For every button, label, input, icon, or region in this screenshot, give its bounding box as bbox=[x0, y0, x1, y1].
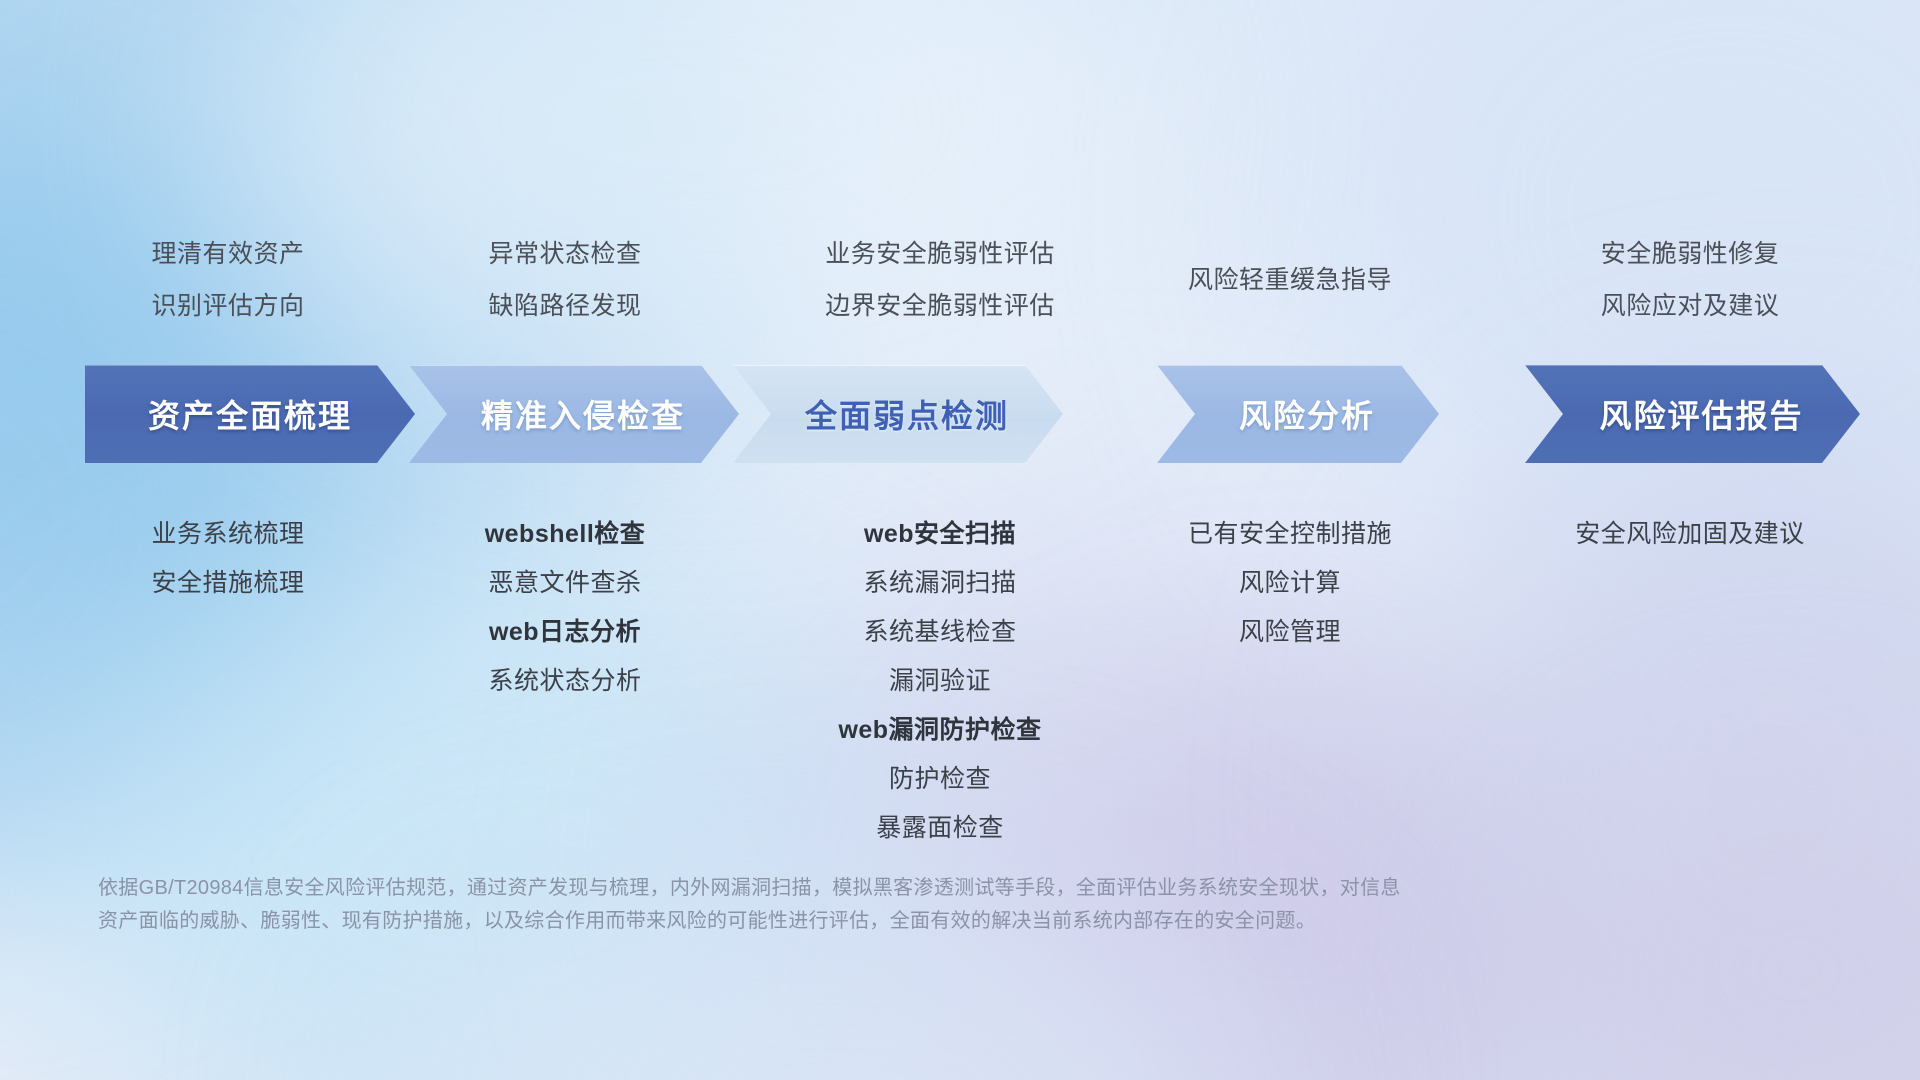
process-stage-chevron-3[interactable]: 全面弱点检测 bbox=[733, 365, 1063, 463]
bottom-item: webshell检查 bbox=[485, 510, 646, 559]
top-label: 异常状态检查 bbox=[488, 228, 641, 280]
process-stage-title: 风险评估报告 bbox=[1599, 391, 1803, 437]
process-stage-chevron-5[interactable]: 风险评估报告 bbox=[1525, 365, 1860, 463]
process-stage-chevron-1[interactable]: 资产全面梳理 bbox=[85, 365, 415, 463]
top-label: 缺陷路径发现 bbox=[488, 280, 641, 332]
bottom-item: 风险计算 bbox=[1239, 559, 1341, 608]
bottom-item: web日志分析 bbox=[489, 608, 641, 657]
bottom-item: 系统基线检查 bbox=[863, 608, 1016, 657]
bottom-item: 安全风险加固及建议 bbox=[1575, 510, 1805, 559]
top-label: 安全脆弱性修复 bbox=[1601, 228, 1780, 280]
footer-line-2: 资产面临的威胁、脆弱性、现有防护措施，以及综合作用而带来风险的可能性进行评估，全… bbox=[98, 905, 1638, 938]
top-label-group-5: 安全脆弱性修复风险应对及建议 bbox=[1440, 228, 1920, 332]
process-stage-title: 风险分析 bbox=[1239, 391, 1375, 437]
top-label: 业务安全脆弱性评估 bbox=[825, 228, 1055, 280]
process-stage-title: 资产全面梳理 bbox=[148, 391, 352, 437]
bottom-item: 系统漏洞扫描 bbox=[863, 559, 1016, 608]
footer-description: 依据GB/T20984信息安全风险评估规范，通过资产发现与梳理，内外网漏洞扫描，… bbox=[98, 872, 1638, 938]
bottom-item: 风险管理 bbox=[1239, 608, 1341, 657]
bottom-item: web漏洞防护检查 bbox=[838, 706, 1041, 755]
top-label: 风险轻重缓急指导 bbox=[1188, 254, 1392, 306]
footer-line-1: 依据GB/T20984信息安全风险评估规范，通过资产发现与梳理，内外网漏洞扫描，… bbox=[98, 872, 1638, 905]
process-stage-chevron-2[interactable]: 精准入侵检查 bbox=[409, 365, 739, 463]
top-label: 识别评估方向 bbox=[151, 280, 304, 332]
bottom-item: 安全措施梳理 bbox=[151, 559, 304, 608]
top-label: 边界安全脆弱性评估 bbox=[825, 280, 1055, 332]
bottom-item: 防护检查 bbox=[889, 755, 991, 804]
bottom-item: 漏洞验证 bbox=[889, 657, 991, 706]
process-diagram: 理清有效资产识别评估方向异常状态检查缺陷路径发现业务安全脆弱性评估边界安全脆弱性… bbox=[0, 0, 1920, 1080]
process-stage-title: 全面弱点检测 bbox=[805, 391, 1009, 437]
bottom-item-group-5: 安全风险加固及建议 bbox=[1440, 510, 1920, 559]
process-chevron-banner: 资产全面梳理精准入侵检查全面弱点检测风险分析风险评估报告 bbox=[85, 365, 1860, 463]
bottom-item: 恶意文件查杀 bbox=[488, 559, 641, 608]
bottom-item: 系统状态分析 bbox=[488, 657, 641, 706]
process-stage-title: 精准入侵检查 bbox=[481, 391, 685, 437]
top-label: 风险应对及建议 bbox=[1601, 280, 1780, 332]
bottom-item: 业务系统梳理 bbox=[151, 510, 304, 559]
process-stage-chevron-4[interactable]: 风险分析 bbox=[1157, 365, 1439, 463]
bottom-item: 暴露面检查 bbox=[876, 804, 1004, 853]
bottom-item: web安全扫描 bbox=[864, 510, 1016, 559]
top-label: 理清有效资产 bbox=[151, 228, 304, 280]
bottom-item: 已有安全控制措施 bbox=[1188, 510, 1392, 559]
